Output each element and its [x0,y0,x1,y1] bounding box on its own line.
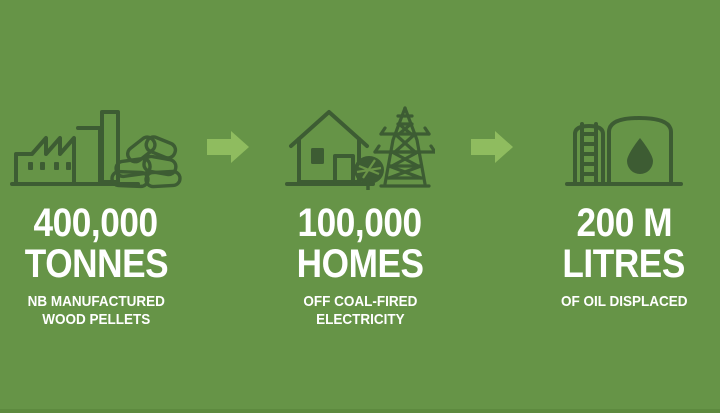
infographic-canvas: 400,000 TONNES NB MANUFACTURED WOOD PELL… [0,0,720,413]
stat-unit: LITRES [563,244,686,284]
stat-unit: TONNES [24,244,167,284]
caption-line-1: OFF COAL-FIRED [303,293,417,310]
caption-line-1: NB MANUFACTURED [27,293,164,310]
stat-column-oil: 200 M LITRES OF OIL DISPLACED [518,104,720,311]
home-power-pylon-icon [285,106,435,190]
stat-value: 400,000 [34,204,158,243]
arrow-slot-1 [202,104,254,190]
stat-column-wood-pellets: 400,000 TONNES NB MANUFACTURED WOOD PELL… [0,104,202,328]
bottom-edge [0,409,720,413]
flow-arrow-2-icon [469,129,515,165]
stat-caption: OF OIL DISPLACED [561,293,688,310]
stat-value: 200 M [576,204,672,243]
caption-line-1: OF OIL DISPLACED [561,293,688,310]
flow-row: 400,000 TONNES NB MANUFACTURED WOOD PELL… [0,0,720,413]
stat-unit: HOMES [297,244,424,284]
factory-wood-pellets-icon [10,108,182,190]
caption-line-2: ELECTRICITY [303,311,417,328]
icon-slot-3 [565,104,683,190]
icon-slot-1 [10,104,182,190]
oil-storage-tanks-icon [565,110,683,190]
stat-caption: OFF COAL-FIRED ELECTRICITY [303,293,417,328]
stat-value: 100,000 [298,204,422,243]
arrow-slot-2 [466,104,518,190]
icon-slot-2 [285,104,435,190]
stat-caption: NB MANUFACTURED WOOD PELLETS [27,293,164,328]
stat-column-homes: 100,000 HOMES OFF COAL-FIRED ELECTRICITY [254,104,466,328]
caption-line-2: WOOD PELLETS [27,311,164,328]
flow-arrow-1-icon [205,129,251,165]
